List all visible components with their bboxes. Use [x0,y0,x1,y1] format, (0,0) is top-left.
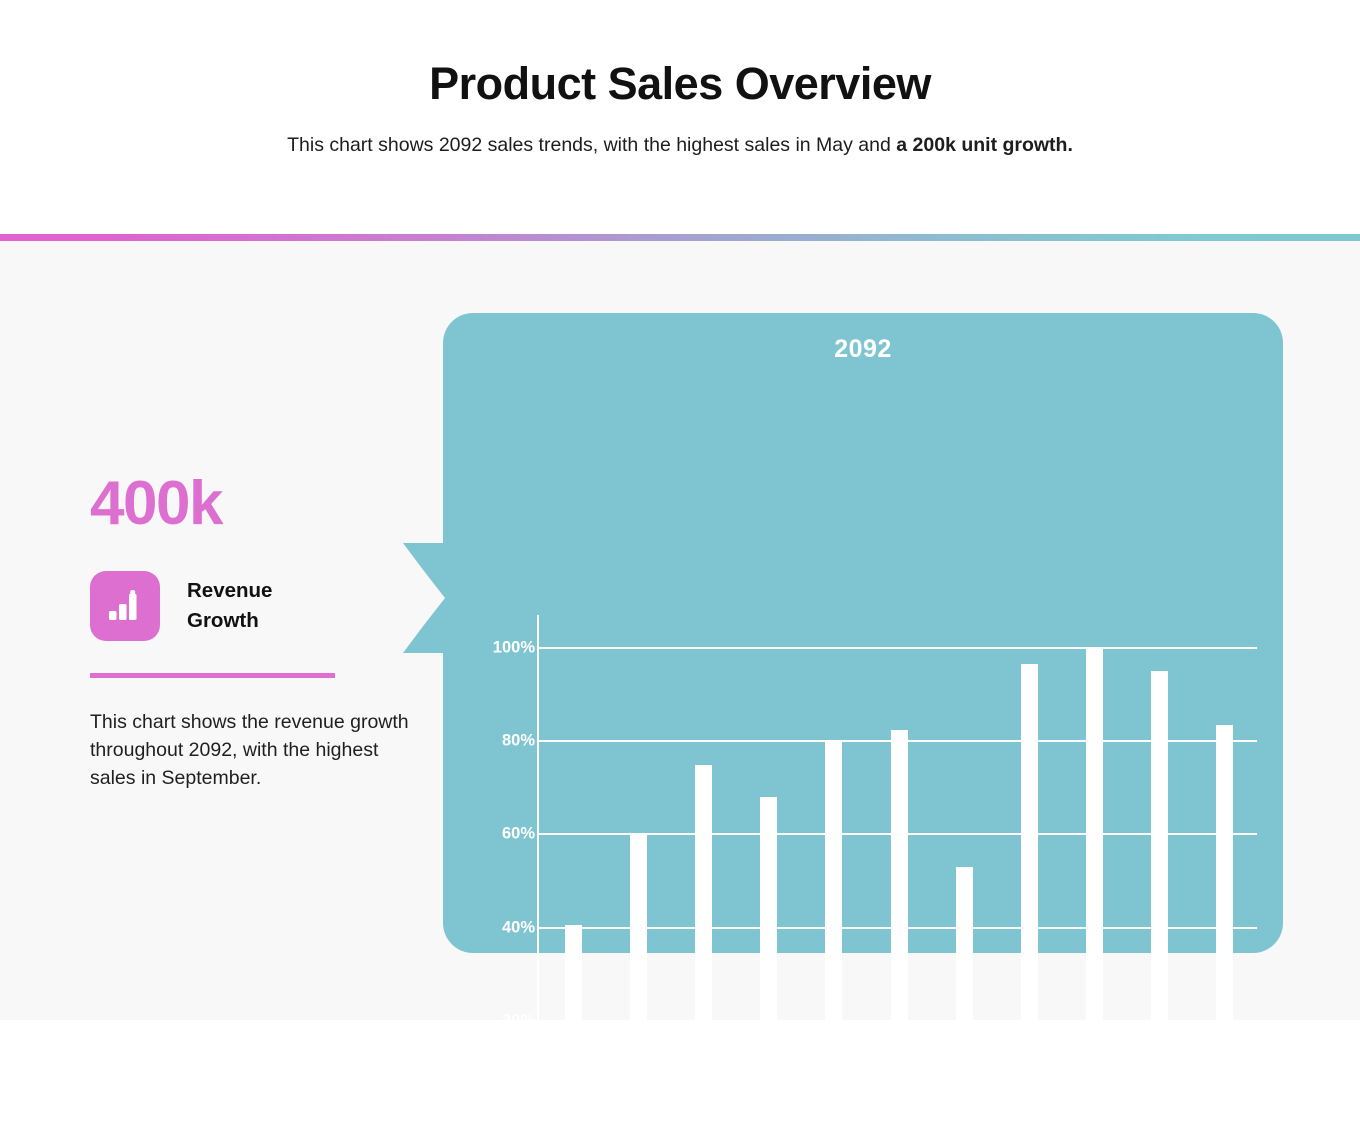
x-tick-label: Jul [932,1123,997,1142]
chart-title: 2092 [443,313,1283,364]
bar [695,765,712,1115]
bar [760,797,777,1114]
chart-card: 2092 100%80%60%40%20%0% JanFebMarAprMayJ… [443,313,1283,953]
bar-slot [541,648,606,1114]
y-tick-label: 60% [455,825,535,844]
x-tick-label: Aug [997,1123,1062,1142]
stat-label-row: Revenue Growth [90,571,420,641]
stat-value: 400k [90,473,420,535]
page-subtitle: This chart shows 2092 sales trends, with… [0,132,1360,159]
stat-label-line2: Growth [187,606,272,636]
gradient-divider [0,234,1360,241]
y-tick-label: 40% [455,918,535,937]
bar-series [541,648,1257,1114]
x-tick-label: Oct [1127,1123,1192,1142]
x-tick-label: Sep [1062,1123,1127,1142]
bar-slot [932,648,997,1114]
y-tick-label: 20% [455,1011,535,1030]
content-area: 400k Revenue Growth This chart shows the… [0,241,1360,1020]
x-tick-label: Nov [1192,1123,1257,1142]
stat-description: This chart shows the revenue growth thro… [90,708,415,792]
bar-slot [1127,648,1192,1114]
bar-chart-icon [90,571,160,641]
x-tick-label: Jun [866,1123,931,1142]
stat-panel: 400k Revenue Growth This chart shows the… [90,473,420,792]
y-tick-label: 0% [455,1105,535,1124]
bar-slot [1062,648,1127,1114]
bar-slot [801,648,866,1114]
bar-slot [736,648,801,1114]
bar-slot [866,648,931,1114]
bar-slot [997,648,1062,1114]
bar-slot [1192,648,1257,1114]
bar [825,741,842,1114]
bar [1151,671,1168,1114]
bar [1216,725,1233,1114]
bar [1086,648,1103,1114]
page-title: Product Sales Overview [0,0,1360,110]
x-tick-label: Mar [671,1123,736,1142]
y-tick-label: 100% [455,639,535,658]
bar [1021,664,1038,1114]
accent-underline [90,673,335,678]
x-tick-label: Jan [541,1123,606,1142]
x-tick-label: Apr [736,1123,801,1142]
page-subtitle-emphasis: a 200k unit growth. [896,134,1073,156]
header: Product Sales Overview This chart shows … [0,0,1360,234]
y-axis-line [537,615,539,1116]
x-axis-labels: JanFebMarAprMayJunJulAugSepOctNov [541,1123,1257,1142]
y-tick-label: 80% [455,732,535,751]
bar [630,834,647,1114]
stat-label: Revenue Growth [187,576,272,635]
x-tick-label: Feb [606,1123,671,1142]
plot-area: 100%80%60%40%20%0% JanFebMarAprMayJunJul… [539,648,1257,1114]
page-subtitle-plain: This chart shows 2092 sales trends, with… [287,134,896,156]
bar-slot [671,648,736,1114]
bar [891,730,908,1114]
bar [956,867,973,1114]
stat-label-line1: Revenue [187,576,272,606]
x-tick-label: May [801,1123,866,1142]
bar-slot [606,648,671,1114]
